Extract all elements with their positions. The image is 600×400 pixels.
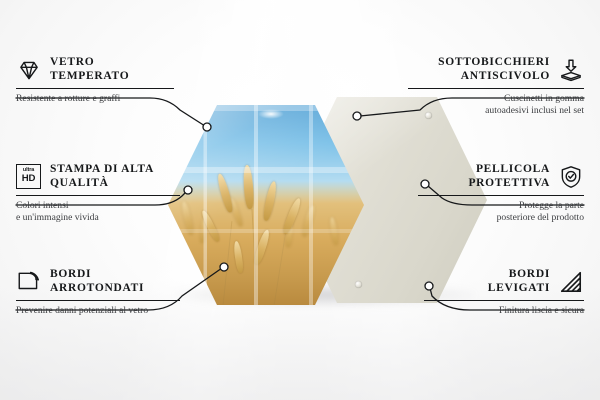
feature-pellicola-protettiva: PELLICOLA PROTETTIVA Protegge la parte p… xyxy=(418,163,584,223)
feature-title-line: BORDI xyxy=(50,268,144,282)
ultra-hd-bottom-text: HD xyxy=(22,174,35,184)
feature-head: BORDI ARROTONDATI xyxy=(16,268,180,295)
feature-bordi-levigati: BORDI LEVIGATI Finitura liscia e sicura xyxy=(424,268,584,317)
feature-rule xyxy=(424,300,584,301)
feature-title-line: TEMPERATO xyxy=(50,70,129,84)
feature-head: BORDI LEVIGATI xyxy=(424,268,584,295)
feature-head: VETRO TEMPERATO xyxy=(16,56,174,83)
coaster-pad-icon xyxy=(558,57,584,83)
feature-title-line: ARROTONDATI xyxy=(50,282,144,296)
feature-bordi-arrotondati: BORDI ARROTONDATI Prevenire danni potenz… xyxy=(16,268,180,317)
feature-title-line: BORDI xyxy=(488,268,550,282)
feature-title: STAMPA DI ALTA QUALITÀ xyxy=(50,163,154,190)
feature-title: BORDI ARROTONDATI xyxy=(50,268,144,295)
rubber-pad xyxy=(355,112,362,119)
feature-title-line: VETRO xyxy=(50,56,129,70)
feature-rule xyxy=(408,88,584,89)
feature-title-line: PELLICOLA xyxy=(468,163,550,177)
feature-title-line: LEVIGATI xyxy=(488,282,550,296)
rounded-corner-icon xyxy=(16,269,42,295)
feature-title: VETRO TEMPERATO xyxy=(50,56,129,83)
feature-subtitle: Resistente a rotture e graffi xyxy=(16,93,174,104)
feature-title-line: STAMPA DI ALTA xyxy=(50,163,154,177)
feature-vetro-temperato: VETRO TEMPERATO Resistente a rotture e g… xyxy=(16,56,174,105)
feature-stampa-di-alta-qualita: ultra HD STAMPA DI ALTA QUALITÀ Colori i… xyxy=(16,163,180,223)
feature-title-line: SOTTOBICCHIERI xyxy=(438,56,550,70)
rubber-pad xyxy=(355,281,362,288)
feature-rule xyxy=(16,300,180,301)
feature-head: SOTTOBICCHIERI ANTISCIVOLO xyxy=(408,56,584,83)
feature-title-line: ANTISCIVOLO xyxy=(438,70,550,84)
feature-title: SOTTOBICCHIERI ANTISCIVOLO xyxy=(438,56,550,83)
feature-rule xyxy=(16,195,180,196)
feature-title: PELLICOLA PROTETTIVA xyxy=(468,163,550,190)
polished-edge-icon xyxy=(558,269,584,295)
ultra-hd-icon: ultra HD xyxy=(16,164,42,190)
feature-rule xyxy=(16,88,174,89)
feature-title-line: QUALITÀ xyxy=(50,177,154,191)
feature-subtitle: Cuscinetti in gomma autoadesivi inclusi … xyxy=(408,93,584,116)
shield-check-icon xyxy=(558,164,584,190)
diamond-icon xyxy=(16,57,42,83)
feature-subtitle: Protegge la parte posteriore del prodott… xyxy=(418,200,584,223)
feature-subtitle: Finitura liscia e sicura xyxy=(424,305,584,316)
feature-subtitle: Colori intensi e un'immagine vivida xyxy=(16,200,180,223)
feature-sottobicchieri-antiscivolo: SOTTOBICCHIERI ANTISCIVOLO Cuscinetti in… xyxy=(408,56,584,116)
feature-head: PELLICOLA PROTETTIVA xyxy=(418,163,584,190)
feature-title-line: PROTETTIVA xyxy=(468,177,550,191)
feature-title: BORDI LEVIGATI xyxy=(488,268,550,295)
feature-subtitle: Prevenire danni potenziali al vetro xyxy=(16,305,180,316)
glass-highlight xyxy=(258,109,284,119)
infographic-canvas: VETRO TEMPERATO Resistente a rotture e g… xyxy=(0,0,600,400)
feature-head: ultra HD STAMPA DI ALTA QUALITÀ xyxy=(16,163,180,190)
feature-rule xyxy=(418,195,584,196)
